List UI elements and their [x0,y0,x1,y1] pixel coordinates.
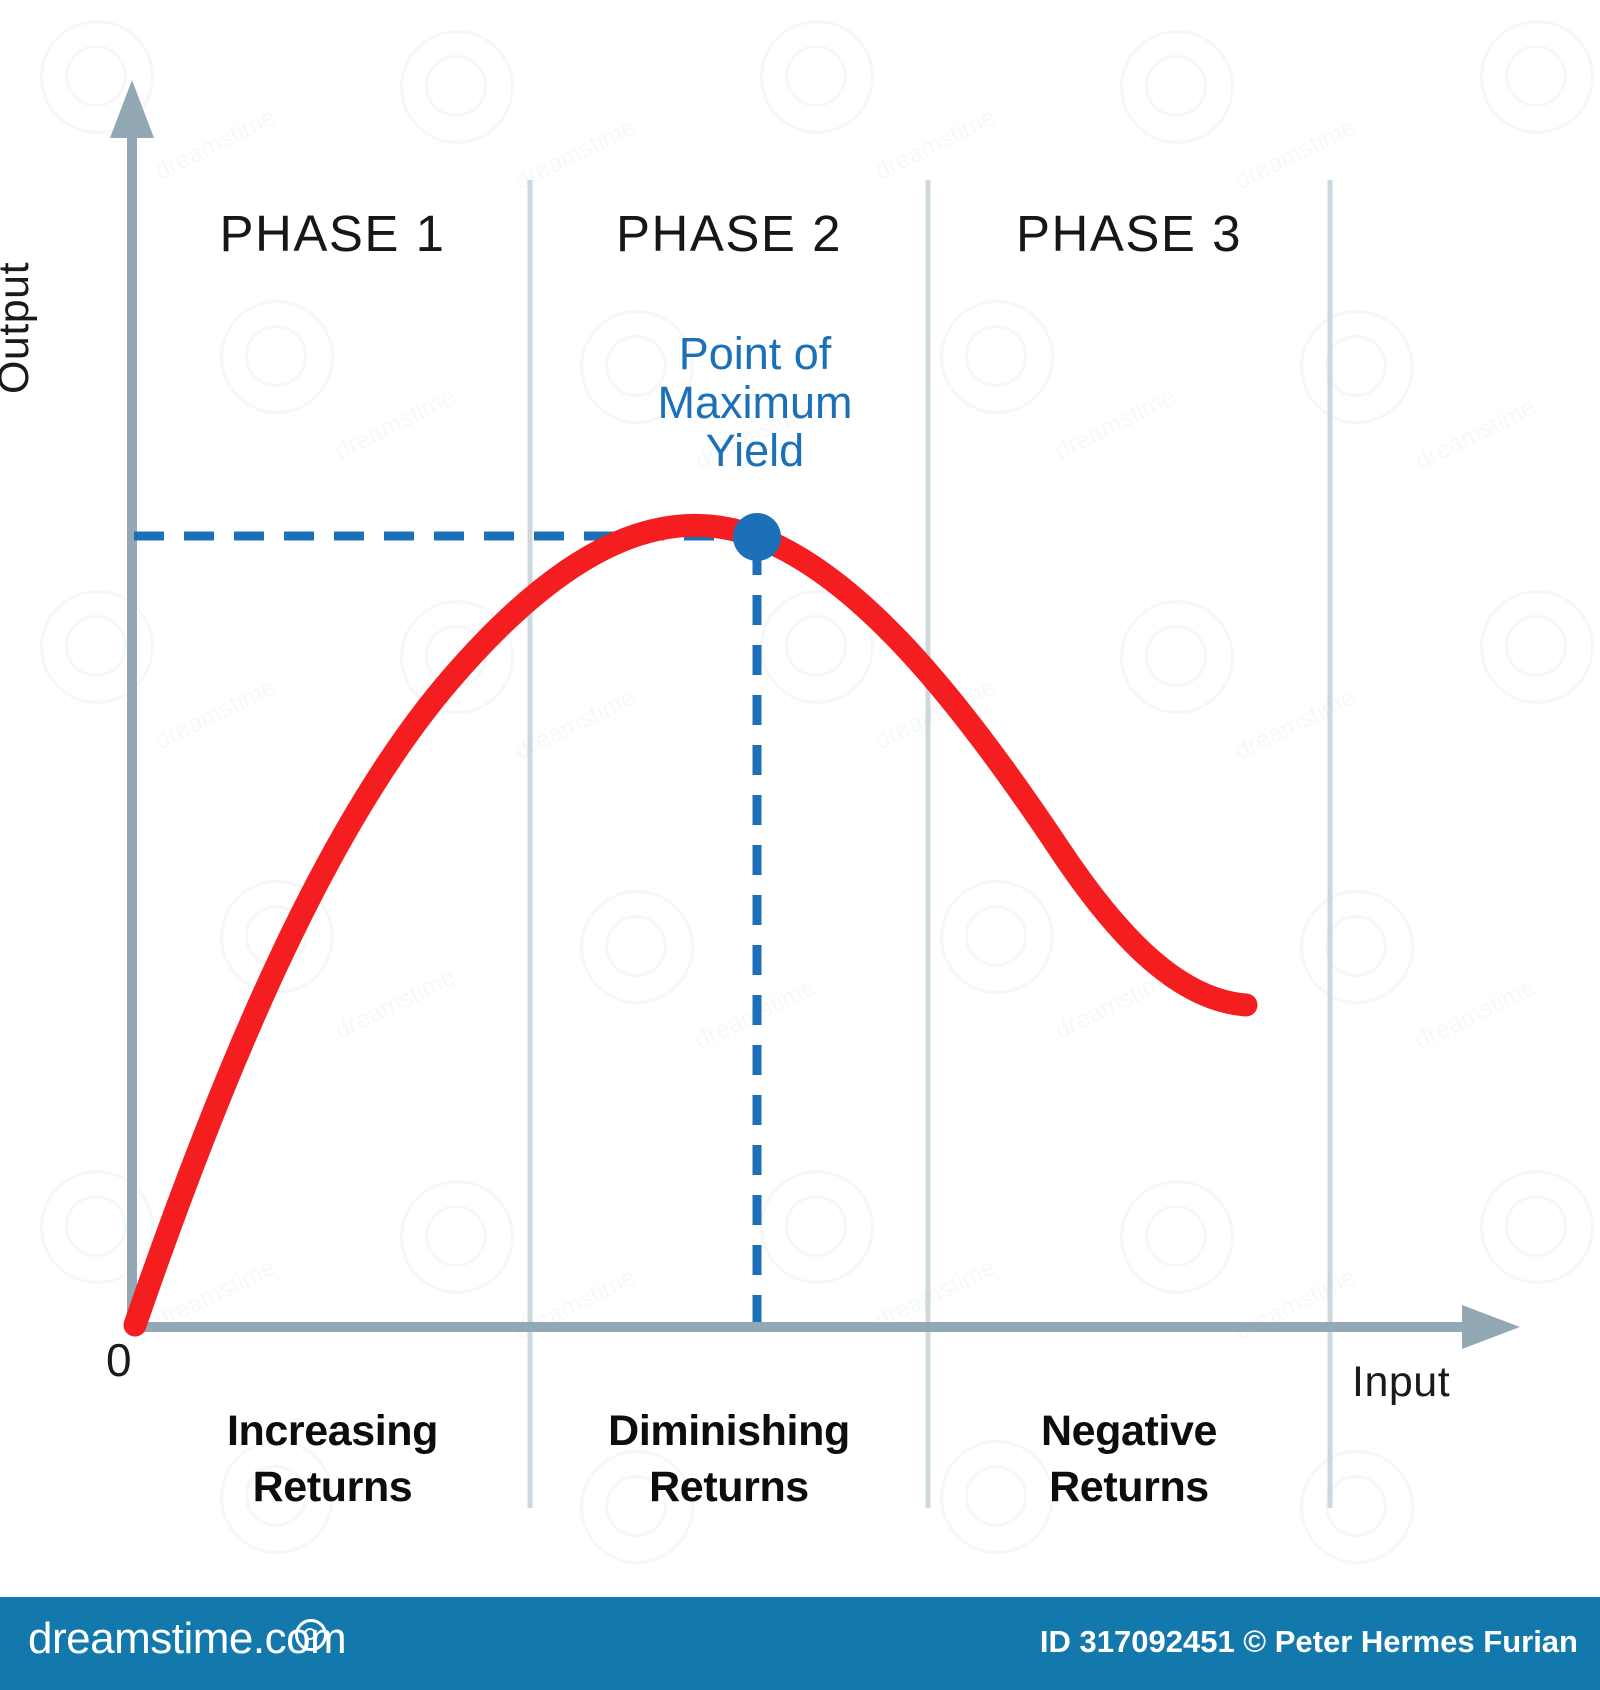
phase-title-2: PHASE 2 [530,204,928,263]
y-axis-title: Output [0,218,39,438]
maximum-yield-annotation: Point of Maximum Yield [545,330,965,476]
region-caption-1-line-1: Increasing [135,1404,530,1460]
maximum-yield-marker [733,513,781,561]
region-caption-1-line-2: Returns [135,1460,530,1516]
phase-title-3: PHASE 3 [928,204,1330,263]
maximum-yield-annotation-line-1: Point of [545,330,965,379]
spiral-icon [295,1619,327,1651]
region-caption-increasing-returns: Increasing Returns [135,1404,530,1516]
region-caption-3-line-1: Negative [928,1404,1330,1460]
phase-title-1: PHASE 1 [135,204,530,263]
x-axis-arrowhead [1462,1305,1520,1349]
origin-label: 0 [106,1333,132,1387]
region-caption-3-line-2: Returns [928,1460,1330,1516]
region-caption-2-line-1: Diminishing [530,1404,928,1460]
output-curve [135,525,1246,1325]
region-caption-diminishing-returns: Diminishing Returns [530,1404,928,1516]
footer-credit: ID 317092451 © Peter Hermes Furian [1040,1624,1578,1660]
maximum-yield-annotation-line-3: Yield [545,427,965,476]
y-axis-arrowhead [110,80,154,138]
maximum-yield-annotation-line-2: Maximum [545,379,965,428]
region-caption-negative-returns: Negative Returns [928,1404,1330,1516]
footer-bar: dreamstime.com ID 317092451 © Peter Herm… [0,1597,1600,1690]
x-axis-title: Input [1352,1358,1450,1407]
chart-canvas: dreamstime dreamstime dreamstime dreamst… [0,0,1600,1690]
region-caption-2-line-2: Returns [530,1460,928,1516]
